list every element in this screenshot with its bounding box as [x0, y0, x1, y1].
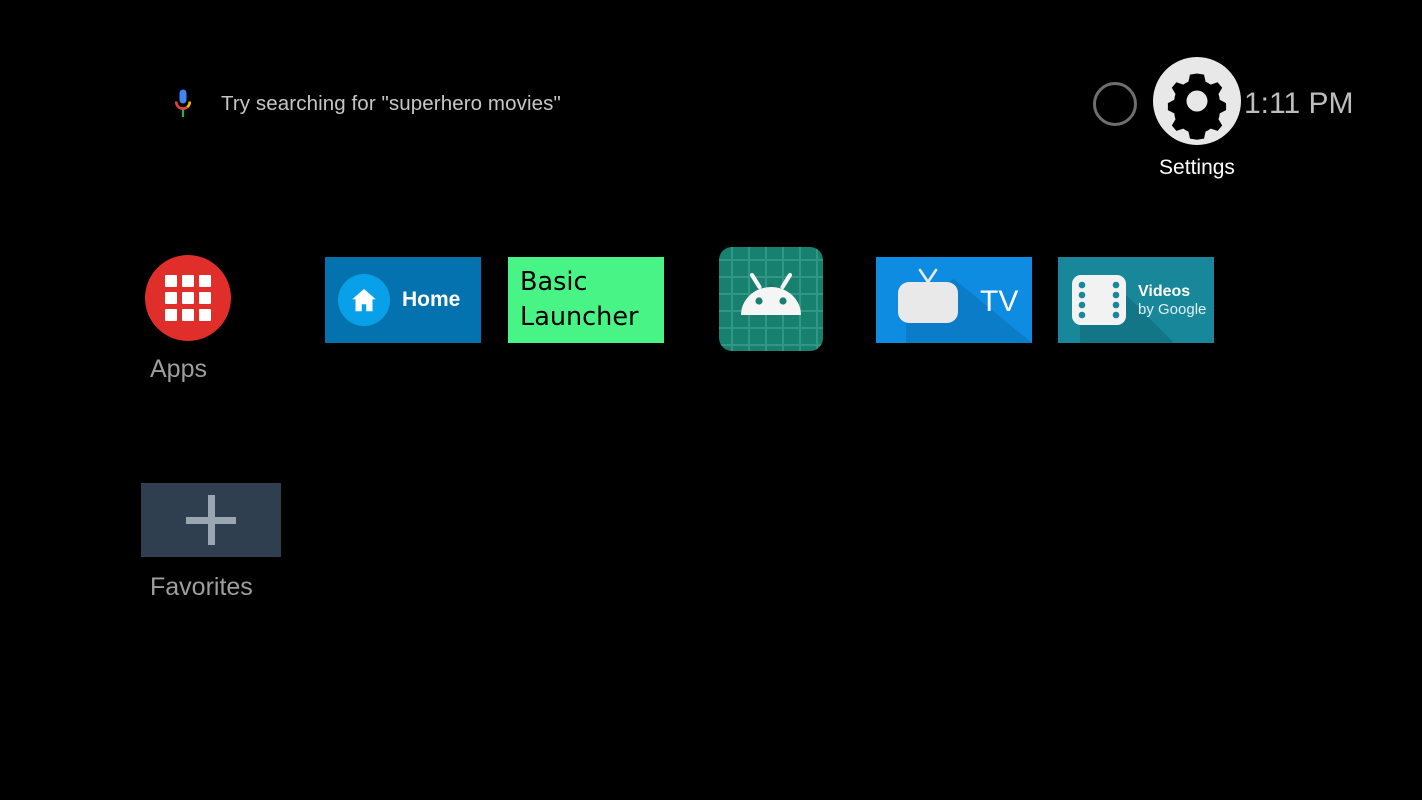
favorites-label: Favorites: [150, 573, 341, 601]
apps-launcher-button[interactable]: Apps: [141, 255, 301, 383]
home-tile-label: Home: [402, 288, 460, 312]
android-tv-home-screen: Try searching for "superhero movies": [0, 0, 1422, 800]
apps-label: Apps: [150, 355, 301, 383]
basic-launcher-label-line1: Basic: [520, 265, 664, 300]
app-tile-basic-launcher[interactable]: Basic Launcher: [508, 257, 664, 343]
app-tile-android[interactable]: [719, 247, 823, 351]
house-icon: [338, 274, 390, 326]
videos-tile-sublabel: by Google: [1138, 301, 1206, 318]
app-tile-home[interactable]: Home: [325, 257, 481, 343]
videos-tile-label: Videos: [1138, 283, 1190, 300]
empty-circle-icon[interactable]: [1093, 82, 1137, 126]
clock: 1:11 PM: [1244, 83, 1354, 125]
app-tile-videos[interactable]: Videos by Google: [1058, 257, 1214, 343]
basic-launcher-tile-content: Basic Launcher: [508, 257, 664, 335]
search-hint-text: Try searching for "superhero movies": [221, 92, 561, 116]
film-strip-icon: Videos by Google: [1058, 257, 1214, 343]
tv-tile-label: TV: [980, 285, 1018, 318]
favorites-add-tile[interactable]: [141, 483, 281, 557]
settings-button[interactable]: Settings: [1152, 56, 1242, 180]
basic-launcher-label-line2: Launcher: [520, 300, 664, 335]
app-tile-tv[interactable]: TV: [876, 257, 1032, 343]
apps-grid-icon: [145, 255, 231, 341]
plus-icon-vertical: [208, 495, 215, 545]
gear-icon: [1152, 56, 1242, 146]
android-robot-icon: [719, 247, 823, 351]
settings-label: Settings: [1152, 156, 1242, 180]
google-assistant-mic-icon[interactable]: [172, 89, 194, 119]
add-favorite-button[interactable]: Favorites: [141, 483, 341, 601]
home-tile-content: Home: [325, 257, 481, 343]
search-bar[interactable]: Try searching for "superhero movies": [172, 83, 561, 125]
status-cluster: Settings 1:11 PM: [1090, 56, 1360, 186]
television-icon: TV: [876, 257, 1032, 343]
apps-grid-squares: [165, 275, 211, 321]
